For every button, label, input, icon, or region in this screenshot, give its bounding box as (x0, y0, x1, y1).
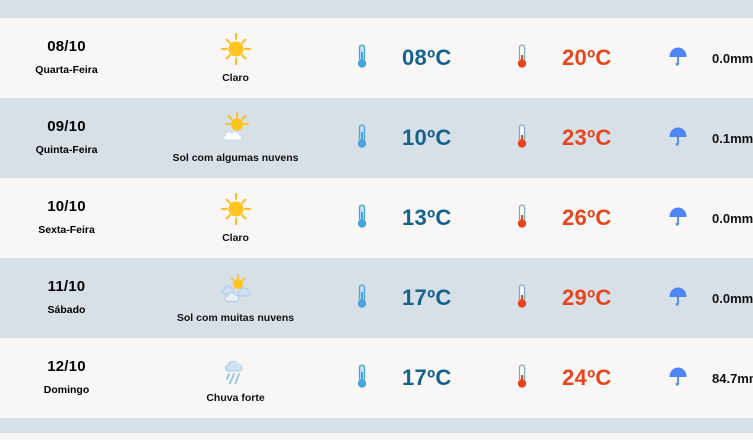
previous-row-strip (0, 0, 753, 18)
thermometer-hot-icon (512, 42, 532, 75)
weather-forecast-table: 08/10 Quarta-Feira (0, 0, 753, 440)
precipitation-cell: 0.0mm (658, 44, 753, 73)
thermometer-cold-icon (352, 122, 372, 155)
precipitation-value: 0.0mm (712, 211, 753, 226)
condition-cell: Claro (133, 191, 338, 245)
precipitation-cell: 0.0mm (658, 204, 753, 233)
max-temperature-cell: 26ºC (498, 202, 658, 235)
max-temperature-value: 20ºC (562, 45, 612, 71)
date-cell: 09/10 Quinta-Feira (0, 119, 133, 157)
thermometer-hot-icon (512, 202, 532, 235)
max-temperature-cell: 20ºC (498, 42, 658, 75)
condition-label: Claro (222, 233, 249, 245)
condition-cell: Sol com algumas nuvens (133, 111, 338, 165)
date-day: 10/10 (0, 199, 133, 216)
forecast-row[interactable]: 09/10 Quinta-Feira Sol com algumas nu (0, 98, 753, 178)
condition-cell: Claro (133, 31, 338, 85)
min-temperature-value: 17ºC (402, 285, 452, 311)
min-temperature-cell: 08ºC (338, 42, 498, 75)
sun-icon (215, 191, 257, 227)
precipitation-cell: 0.1mm (658, 124, 753, 153)
condition-label: Sol com muitas nuvens (177, 313, 294, 325)
max-temperature-value: 24ºC (562, 365, 612, 391)
date-day: 12/10 (0, 359, 133, 376)
min-temperature-value: 08ºC (402, 45, 452, 71)
condition-label: Claro (222, 73, 249, 85)
forecast-row[interactable]: 08/10 Quarta-Feira (0, 18, 753, 98)
date-weekday: Domingo (0, 385, 133, 397)
umbrella-icon (666, 124, 690, 153)
forecast-row[interactable]: 10/10 Sexta-Feira (0, 178, 753, 258)
date-weekday: Sexta-Feira (0, 225, 133, 237)
max-temperature-cell: 24ºC (498, 362, 658, 395)
thermometer-cold-icon (352, 362, 372, 395)
date-cell: 10/10 Sexta-Feira (0, 199, 133, 237)
condition-label: Sol com algumas nuvens (172, 153, 298, 165)
date-cell: 08/10 Quarta-Feira (0, 39, 133, 77)
thermometer-cold-icon (352, 42, 372, 75)
min-temperature-value: 17ºC (402, 365, 452, 391)
heavy-rain-icon (215, 351, 257, 387)
sun-icon (215, 31, 257, 67)
thermometer-hot-icon (512, 122, 532, 155)
next-row-strip (0, 418, 753, 433)
precipitation-cell: 84.7mm (658, 364, 753, 393)
umbrella-icon (666, 44, 690, 73)
umbrella-icon (666, 364, 690, 393)
min-temperature-cell: 13ºC (338, 202, 498, 235)
min-temperature-cell: 17ºC (338, 362, 498, 395)
condition-cell: Chuva forte (133, 351, 338, 405)
max-temperature-value: 26ºC (562, 205, 612, 231)
thermometer-hot-icon (512, 282, 532, 315)
precipitation-value: 0.0mm (712, 51, 753, 66)
date-day: 09/10 (0, 119, 133, 136)
condition-cell: Sol com muitas nuvens (133, 271, 338, 325)
precipitation-cell: 0.0mm (658, 284, 753, 313)
date-cell: 12/10 Domingo (0, 359, 133, 397)
min-temperature-cell: 10ºC (338, 122, 498, 155)
max-temperature-value: 29ºC (562, 285, 612, 311)
min-temperature-cell: 17ºC (338, 282, 498, 315)
min-temperature-value: 13ºC (402, 205, 452, 231)
forecast-row[interactable]: 12/10 Domingo Chuva forte (0, 338, 753, 418)
max-temperature-cell: 23ºC (498, 122, 658, 155)
max-temperature-value: 23ºC (562, 125, 612, 151)
precipitation-value: 0.1mm (712, 131, 753, 146)
umbrella-icon (666, 204, 690, 233)
sun-small-cloud-icon (215, 111, 257, 147)
date-cell: 11/10 Sábado (0, 279, 133, 317)
date-weekday: Sábado (0, 305, 133, 317)
date-day: 08/10 (0, 39, 133, 56)
date-weekday: Quarta-Feira (0, 65, 133, 77)
thermometer-cold-icon (352, 202, 372, 235)
forecast-row[interactable]: 11/10 Sábado Sol com muitas nuvens (0, 258, 753, 338)
sun-big-cloud-icon (215, 271, 257, 307)
condition-label: Chuva forte (206, 393, 264, 405)
thermometer-cold-icon (352, 282, 372, 315)
umbrella-icon (666, 284, 690, 313)
min-temperature-value: 10ºC (402, 125, 452, 151)
max-temperature-cell: 29ºC (498, 282, 658, 315)
precipitation-value: 84.7mm (712, 371, 753, 386)
date-day: 11/10 (0, 279, 133, 296)
thermometer-hot-icon (512, 362, 532, 395)
date-weekday: Quinta-Feira (0, 145, 133, 157)
precipitation-value: 0.0mm (712, 291, 753, 306)
